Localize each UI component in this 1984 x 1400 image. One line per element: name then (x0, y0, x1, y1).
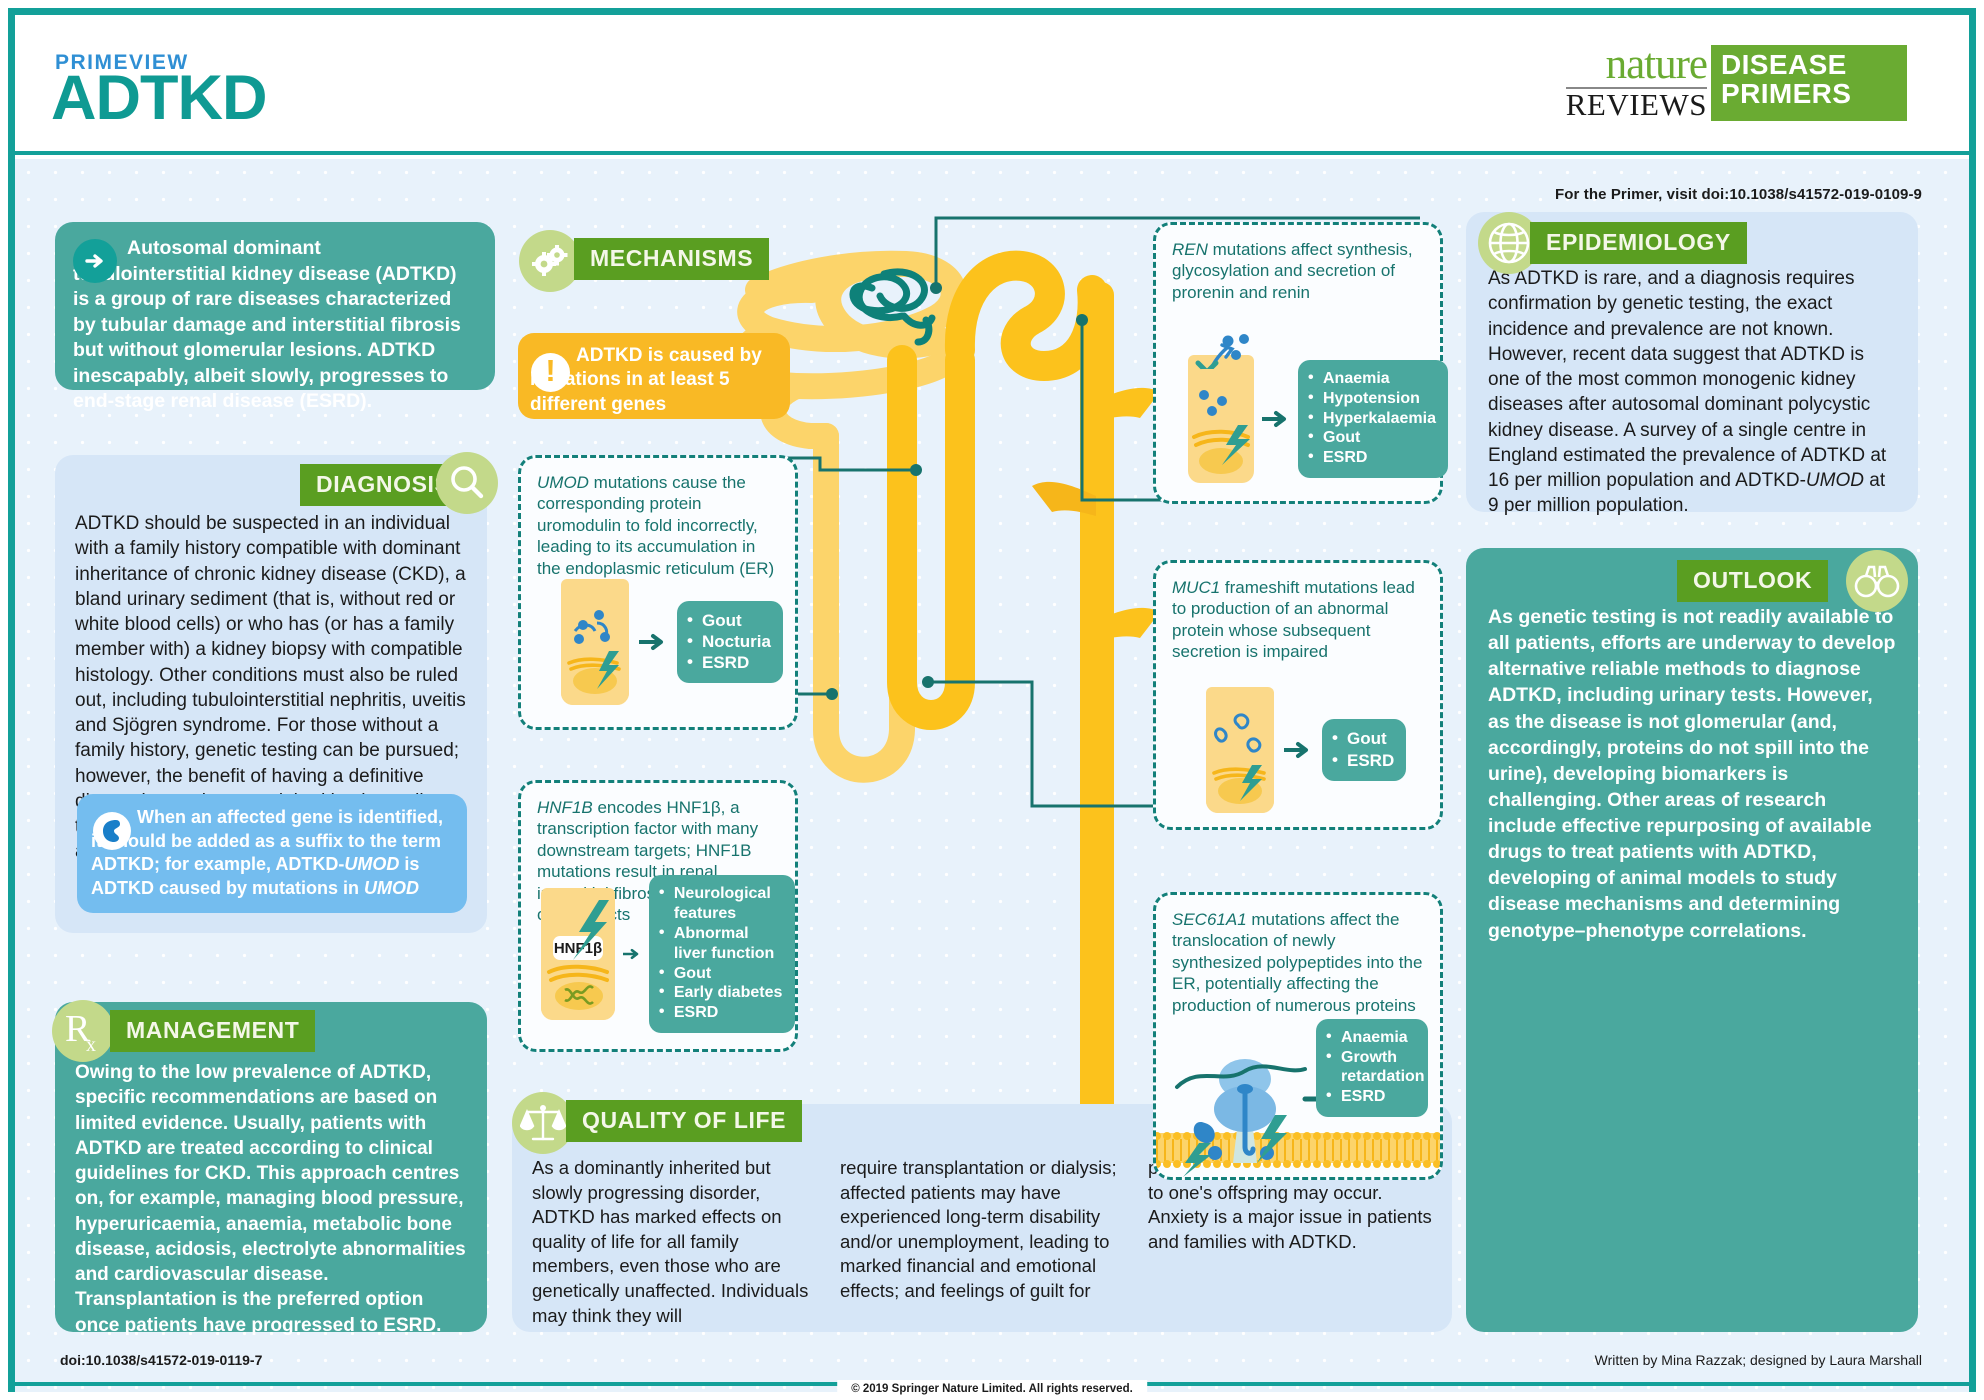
intro-text: Autosomal dominant tubulointerstitial ki… (73, 236, 477, 415)
outcome-item: Hypotension (1308, 389, 1436, 409)
disease-primers-badge: DISEASE PRIMERS (1711, 45, 1907, 121)
outcome-item: Anaemia (1308, 369, 1436, 389)
outcome-item: Growth retardation (1326, 1048, 1416, 1088)
diagnosis-callout: When an affected gene is identified, it … (77, 794, 467, 913)
infographic-page: { "header": { "kicker": "PRIMEVIEW", "ti… (0, 0, 1984, 1400)
arrow-icon-muc1 (1284, 740, 1312, 760)
mechanism-sec61a1-text: SEC61A1 mutations affect the translocati… (1172, 909, 1424, 1016)
outcomes-hnf1b: Neurological features Abnormal liver fun… (649, 875, 795, 1033)
outcomes-muc1: Gout ESRD (1322, 719, 1406, 780)
cell-illustration-umod (561, 579, 629, 705)
magnifier-icon (436, 452, 498, 514)
outcome-item: Abnormal liver function (659, 924, 783, 964)
outcome-item: Hyperkalaemia (1308, 409, 1436, 429)
badge-line-1: DISEASE (1721, 51, 1894, 80)
outcome-item: Gout (687, 610, 771, 631)
cell-illustration-ren (1188, 355, 1254, 483)
mechanisms-callout: ! ADTKD is caused by mutations in at lea… (518, 333, 790, 419)
gene-name-umod: UMOD (537, 473, 589, 492)
rx-icon: R x (52, 1000, 114, 1062)
section-label-mechanisms: MECHANISMS (574, 238, 769, 280)
section-label-epidemiology: EPIDEMIOLOGY (1530, 222, 1747, 264)
outcome-item: Anaemia (1326, 1028, 1416, 1048)
outcome-item: Gout (1332, 728, 1394, 749)
svg-text:HNF1β: HNF1β (554, 940, 602, 957)
mechanism-box-umod: UMOD mutations cause the corresponding p… (518, 455, 798, 730)
diagnosis-callout-gene2: UMOD (364, 878, 419, 898)
outcome-item: Gout (659, 964, 783, 984)
arrow-right-icon (73, 239, 117, 283)
gene-name-hnf1b: HNF1B (537, 798, 593, 817)
outcome-item: ESRD (1326, 1087, 1416, 1107)
management-text: Owing to the low prevalence of ADTKD, sp… (75, 1060, 467, 1338)
section-label-quality-of-life: QUALITY OF LIFE (566, 1100, 802, 1142)
exclamation-icon: ! (531, 353, 570, 392)
mechanism-box-hnf1b: HNF1B encodes HNF1β, a transcription fac… (518, 780, 798, 1052)
footer-copyright: © 2019 Springer Nature Limited. All righ… (837, 1380, 1147, 1398)
outcome-item: Neurological features (659, 884, 783, 924)
outcome-item: ESRD (1308, 448, 1436, 468)
nature-reviews-logo: nature REVIEWS DISEASE PRIMERS (1566, 45, 1907, 121)
outcome-item: Early diabetes (659, 983, 783, 1003)
intro-card: Autosomal dominant tubulointerstitial ki… (55, 222, 495, 390)
outcome-item: ESRD (1332, 750, 1394, 771)
mechanism-box-muc1: MUC1 frameshift mutations lead to produc… (1153, 560, 1443, 830)
outcome-item: ESRD (687, 652, 771, 673)
section-label-outlook: OUTLOOK (1677, 560, 1828, 602)
cell-illustration-muc1 (1206, 687, 1274, 813)
cell-illustration-hnf1b: HNF1β (541, 888, 615, 1020)
outcomes-umod: Gout Nocturia ESRD (677, 601, 783, 683)
section-label-management: MANAGEMENT (110, 1010, 315, 1052)
primer-doi-note: For the Primer, visit doi:10.1038/s41572… (1555, 186, 1922, 203)
qol-column-3: passing the disease unknowingly to one's… (1148, 1156, 1432, 1328)
outcomes-sec61a1: Anaemia Growth retardation ESRD (1316, 1019, 1428, 1117)
mechanism-ren-text: REN mutations affect synthesis, glycosyl… (1172, 239, 1424, 303)
epidemiology-text-pre: As ADTKD is rare, and a diagnosis requir… (1488, 268, 1886, 491)
mechanism-box-sec61a1: SEC61A1 mutations affect the translocati… (1153, 892, 1443, 1180)
scales-icon (512, 1092, 574, 1154)
gene-name-muc1: MUC1 (1172, 578, 1220, 597)
svg-text:x: x (86, 1034, 96, 1055)
arrow-icon-umod (639, 632, 667, 652)
mechanism-muc1-text: MUC1 frameshift mutations lead to produc… (1172, 577, 1424, 663)
mechanism-umod-text: UMOD mutations cause the corresponding p… (537, 472, 779, 579)
footer-credit: Written by Mina Razzak; designed by Laur… (1595, 1352, 1922, 1368)
logo-reviews-word: REVIEWS (1566, 89, 1707, 122)
gene-name-sec61a1: SEC61A1 (1172, 910, 1247, 929)
arrow-icon-hnf1b (623, 944, 641, 964)
qol-column-1: As a dominantly inherited but slowly pro… (532, 1156, 816, 1328)
outlook-card: As genetic testing is not readily availa… (1466, 548, 1918, 1332)
binoculars-icon (1846, 550, 1908, 612)
arrow-icon-ren (1262, 409, 1290, 429)
outcome-item: Nocturia (687, 631, 771, 652)
outcomes-ren: Anaemia Hypotension Hyperkalaemia Gout E… (1298, 360, 1448, 478)
page-title: ADTKD (51, 62, 266, 134)
logo-nature-word: nature (1566, 45, 1707, 89)
outcome-item: Gout (1308, 428, 1436, 448)
badge-line-2: PRIMERS (1721, 80, 1894, 109)
mechanism-ren-rest: mutations affect synthesis, glycosylatio… (1172, 240, 1413, 302)
gene-name-ren: REN (1172, 240, 1208, 259)
footer-doi: doi:10.1038/s41572-019-0119-7 (60, 1352, 262, 1368)
epidemiology-gene: UMOD (1806, 470, 1864, 491)
qol-column-2: require transplantation or dialysis; aff… (840, 1156, 1124, 1328)
diagnosis-callout-gene1: UMOD (344, 854, 399, 874)
outlook-text: As genetic testing is not readily availa… (1488, 604, 1896, 944)
mechanism-box-ren: REN mutations affect synthesis, glycosyl… (1153, 222, 1443, 504)
page-header: PRIMEVIEW ADTKD nature REVIEWS DISEASE P… (15, 15, 1969, 155)
outcome-item: ESRD (659, 1003, 783, 1023)
gears-icon (519, 230, 581, 292)
diagnosis-card: ADTKD should be suspected in an individu… (55, 455, 487, 933)
